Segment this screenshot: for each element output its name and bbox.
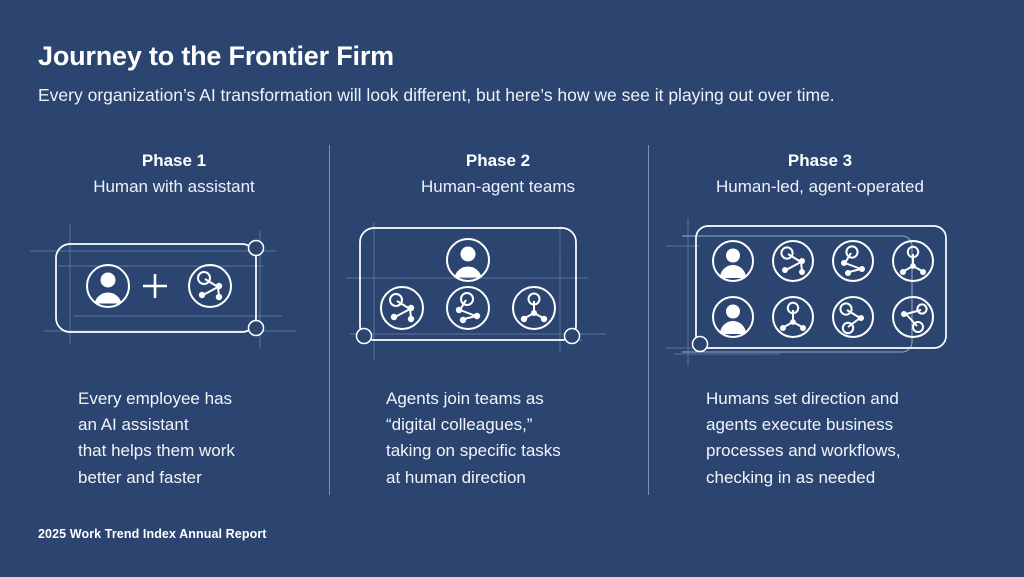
phase-column-2: Phase 2 Human-agent teams	[338, 150, 658, 510]
corner-handle-bottom-right	[249, 320, 264, 335]
agent-icon	[381, 287, 423, 329]
body-line: that helps them work	[78, 438, 334, 464]
body-line: taking on specific tasks	[386, 438, 658, 464]
phase-column-3: Phase 3 Human-led, agent-operated	[660, 150, 980, 510]
body-line: at human direction	[386, 465, 658, 491]
footer-attribution: 2025 Work Trend Index Annual Report	[38, 527, 267, 541]
corner-handle-bottom-left	[357, 328, 372, 343]
corner-handle-top-right	[249, 240, 264, 255]
phase-2-subtitle: Human-agent teams	[338, 176, 658, 197]
person-icon	[87, 265, 129, 307]
phase-2-illustration	[338, 216, 658, 376]
phase-1-illustration	[14, 216, 334, 376]
phase-1-label: Phase 1	[14, 150, 334, 171]
phase-3-label: Phase 3	[660, 150, 980, 171]
body-line: Agents join teams as	[386, 386, 658, 412]
body-line: Humans set direction and	[706, 386, 980, 412]
phase-3-body: Humans set direction and agents execute …	[660, 386, 980, 491]
body-line: agents execute business	[706, 412, 980, 438]
agent-icon	[833, 297, 873, 337]
agent-icon	[773, 297, 813, 337]
agent-icon	[833, 241, 873, 281]
body-line: checking in as needed	[706, 465, 980, 491]
agent-icon	[513, 287, 555, 329]
phase-2-body: Agents join teams as “digital colleagues…	[338, 386, 658, 491]
phase-1-body: Every employee has an AI assistant that …	[14, 386, 334, 491]
phase-2-label: Phase 2	[338, 150, 658, 171]
agent-icon	[773, 241, 813, 281]
agent-icon	[447, 287, 489, 329]
phase-1-subtitle: Human with assistant	[14, 176, 334, 197]
person-icon	[713, 297, 753, 337]
agent-icon	[189, 265, 231, 307]
agent-icon	[893, 241, 933, 281]
page-title: Journey to the Frontier Firm	[38, 41, 394, 72]
plus-icon	[143, 274, 167, 298]
body-line: better and faster	[78, 465, 334, 491]
guide-lines	[666, 218, 780, 366]
phase-3-illustration	[660, 216, 980, 376]
person-icon	[713, 241, 753, 281]
phase-column-1: Phase 1 Human with assistant	[14, 150, 334, 510]
phase-3-subtitle: Human-led, agent-operated	[660, 176, 980, 197]
agent-icon	[893, 297, 933, 337]
body-line: processes and workflows,	[706, 438, 980, 464]
body-line: “digital colleagues,”	[386, 412, 658, 438]
body-line: Every employee has	[78, 386, 334, 412]
guide-frame-outline	[682, 236, 912, 352]
page-subtitle: Every organization’s AI transformation w…	[38, 85, 835, 106]
corner-handle-bottom-right	[565, 328, 580, 343]
body-line: an AI assistant	[78, 412, 334, 438]
corner-handle-bottom-left	[693, 336, 708, 351]
frame-outline	[360, 228, 576, 340]
slide-canvas: Journey to the Frontier Firm Every organ…	[0, 0, 1024, 577]
person-icon	[447, 239, 489, 281]
